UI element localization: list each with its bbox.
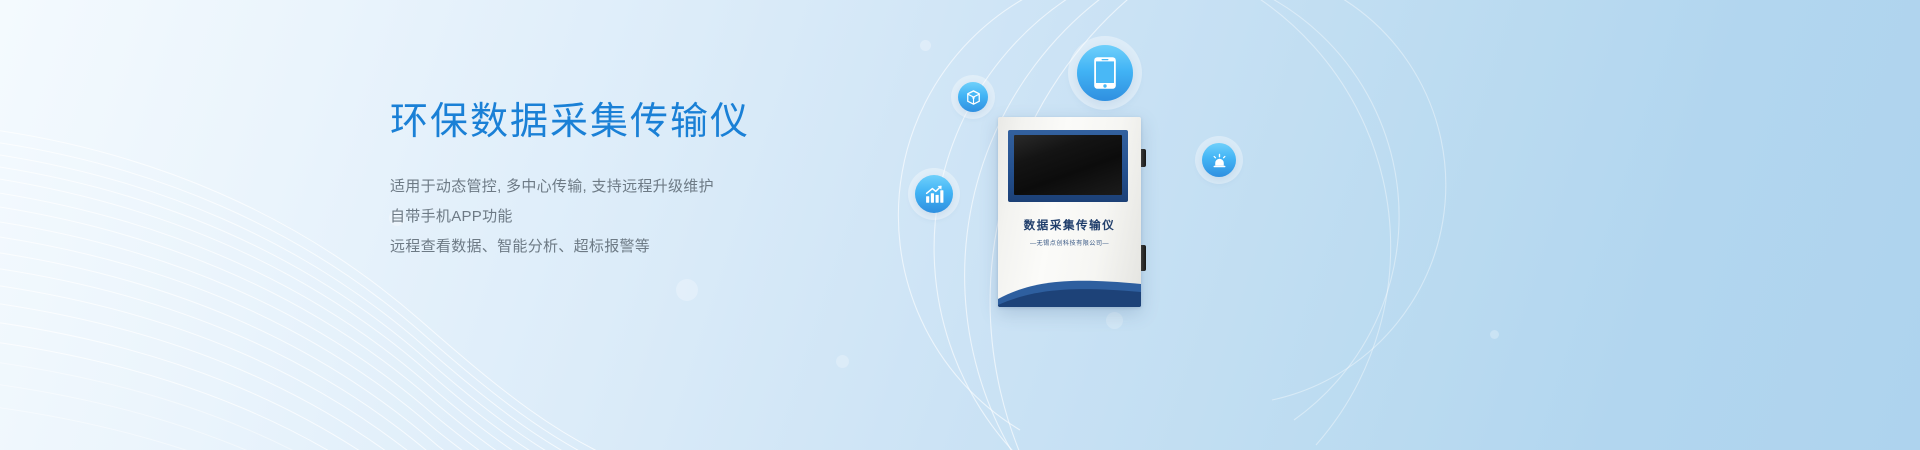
signal-arc-decoration	[880, 0, 1580, 450]
device-manufacturer: —无锡点创科技有限公司—	[998, 238, 1141, 247]
device-model-name: 数据采集传输仪	[998, 217, 1141, 233]
device-screen-bezel	[1008, 130, 1128, 202]
feature-list-item: 自带手机APP功能	[390, 202, 910, 232]
device-base-graphic	[998, 277, 1141, 307]
device-hinge-bottom	[1141, 245, 1146, 271]
alarm-icon[interactable]	[1202, 143, 1236, 177]
feature-list: 适用于动态管控, 多中心传输, 支持远程升级维护 自带手机APP功能 远程查看数…	[390, 172, 910, 262]
device-hinge-top	[1141, 149, 1146, 167]
feature-list-item: 远程查看数据、智能分析、超标报警等	[390, 232, 910, 262]
hero-copy: 环保数据采集传输仪 适用于动态管控, 多中心传输, 支持远程升级维护 自带手机A…	[390, 98, 910, 262]
product-hero-banner: 环保数据采集传输仪 适用于动态管控, 多中心传输, 支持远程升级维护 自带手机A…	[0, 0, 1920, 450]
device-image: 数据采集传输仪 —无锡点创科技有限公司—	[998, 117, 1141, 307]
decorative-bubble	[676, 279, 698, 301]
decorative-bubble	[836, 355, 849, 368]
chart-icon[interactable]	[915, 175, 953, 213]
cube-icon[interactable]	[958, 82, 988, 112]
phone-icon[interactable]	[1077, 45, 1133, 101]
feature-list-item: 适用于动态管控, 多中心传输, 支持远程升级维护	[390, 172, 910, 202]
device-branding: 数据采集传输仪 —无锡点创科技有限公司—	[998, 217, 1141, 247]
device-screen	[1014, 135, 1122, 195]
product-visual: 数据采集传输仪 —无锡点创科技有限公司—	[880, 0, 1580, 450]
page-title: 环保数据采集传输仪	[390, 98, 910, 146]
